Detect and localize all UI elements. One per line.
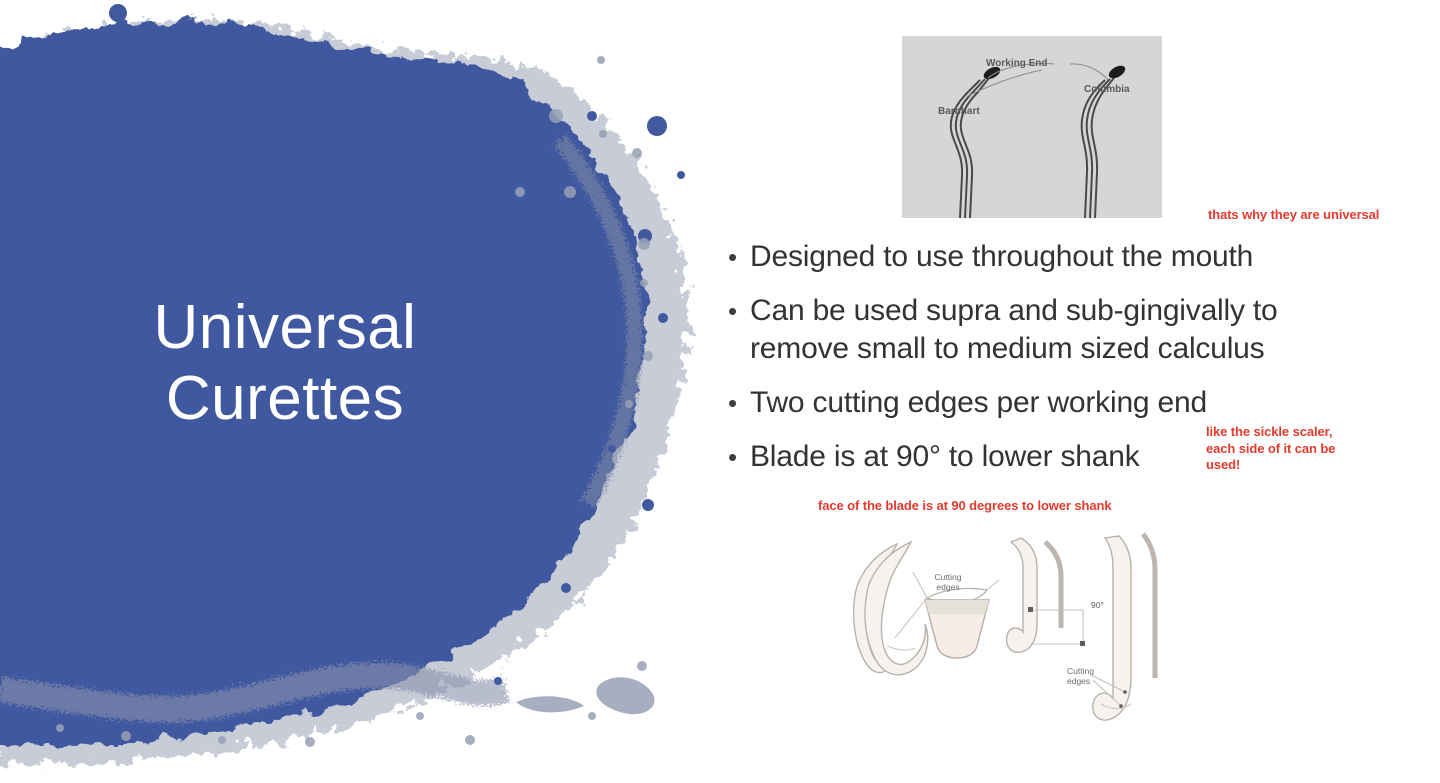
bullet-marker-icon: • <box>728 438 750 476</box>
svg-text:edges: edges <box>936 582 959 592</box>
bullet-text: Can be used supra and sub-gingivally to … <box>750 292 1338 368</box>
annotation-blade-face-angle: face of the blade is at 90 degrees to lo… <box>818 498 1218 515</box>
photo-label-barnhart: Barnhart <box>938 106 980 117</box>
bullet-item: • Can be used supra and sub-gingivally t… <box>728 292 1338 368</box>
annotation-sickle-scaler: like the sickle scaler, each side of it … <box>1206 424 1356 474</box>
photo-label-working-end: Working End <box>986 58 1047 69</box>
label-angle-90: 90° <box>1091 600 1104 610</box>
bullet-marker-icon: • <box>728 238 750 276</box>
slide-canvas: Universal Curettes <box>0 0 1440 783</box>
bullet-marker-icon: • <box>728 384 750 422</box>
annotation-universal: thats why they are universal <box>1208 207 1438 224</box>
bullet-item: • Designed to use throughout the mouth <box>728 238 1338 276</box>
slide-title: Universal Curettes <box>70 292 500 435</box>
svg-text:edges: edges <box>1067 676 1090 686</box>
label-cutting-edges-left: Cutting <box>935 572 962 582</box>
bullet-text: Designed to use throughout the mouth <box>750 238 1338 276</box>
label-cutting-edges-right: Cutting <box>1067 666 1094 676</box>
title-line-2: Curettes <box>70 363 500 434</box>
photo-label-columbia: Columbia <box>1084 84 1130 95</box>
bullet-marker-icon: • <box>728 292 750 330</box>
bullet-text: Two cutting edges per working end <box>750 384 1338 422</box>
bullet-item: • Two cutting edges per working end <box>728 384 1338 422</box>
instrument-photo-top: Working End Barnhart Columbia <box>902 36 1162 218</box>
curette-blade-diagram: Cutting edges 90° <box>835 528 1175 750</box>
title-line-1: Universal <box>70 292 500 363</box>
